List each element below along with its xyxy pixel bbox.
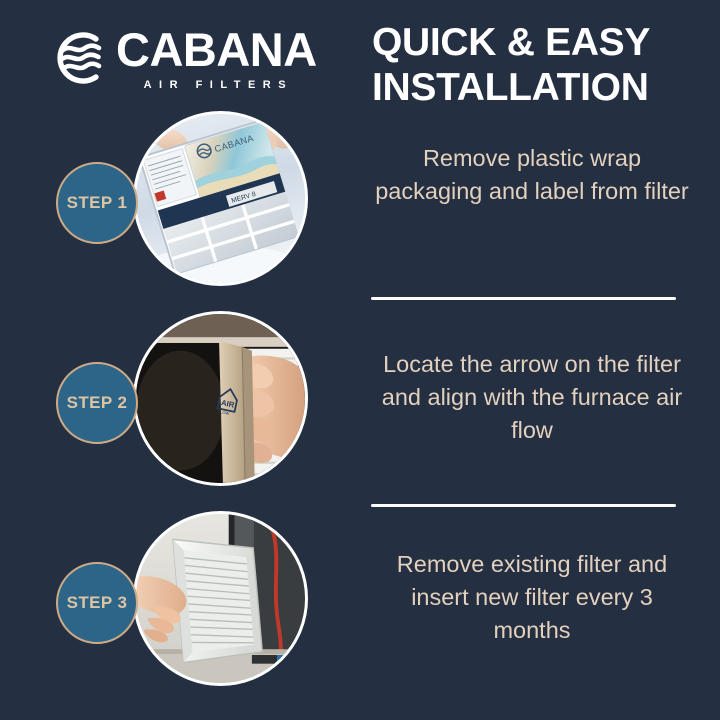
step-description-3: Remove existing filter and insert new fi… <box>372 548 692 647</box>
step-description-1: Remove plastic wrap packaging and label … <box>372 142 692 208</box>
page-title: QUICK & EASY INSTALLATION <box>372 20 692 110</box>
brand-name: CABANA <box>116 26 317 73</box>
photo-hand-aligning-air-flow-arrow: AIR FLOW <box>133 311 308 486</box>
step-row-3: STEP 3 Remove existing filter and insert… <box>0 504 720 704</box>
brand-logo: CABANA AIR FILTERS <box>52 22 352 94</box>
brand-subtitle: AIR FILTERS <box>116 78 317 92</box>
brand-wordmark: CABANA AIR FILTERS <box>116 26 317 92</box>
step-badge-label-3: STEP 3 <box>67 593 128 613</box>
step-badge-label-1: STEP 1 <box>67 193 128 213</box>
step-badge-1: STEP 1 <box>56 162 138 244</box>
photo-hand-inserting-filter-into-furnace <box>133 511 308 686</box>
cabana-wave-c-icon <box>52 28 112 88</box>
step-description-2: Locate the arrow on the filter and align… <box>372 348 692 447</box>
step-badge-label-2: STEP 2 <box>67 393 128 413</box>
divider-between-step-1-and-2 <box>371 297 676 300</box>
installation-infographic: CABANA AIR FILTERS QUICK & EASY INSTALLA… <box>0 0 720 720</box>
photo-hands-removing-plastic-wrap-from-filter: CABANA MERV 8 <box>133 111 308 286</box>
headline-line-1: QUICK & EASY <box>372 21 650 64</box>
step-row-1: CABANA MERV 8 <box>0 104 720 304</box>
step-badge-3: STEP 3 <box>56 562 138 644</box>
step-badge-2: STEP 2 <box>56 362 138 444</box>
step-row-2: AIR FLOW STEP 2 Locate the arrow on the … <box>0 304 720 504</box>
divider-between-step-2-and-3 <box>371 504 676 507</box>
